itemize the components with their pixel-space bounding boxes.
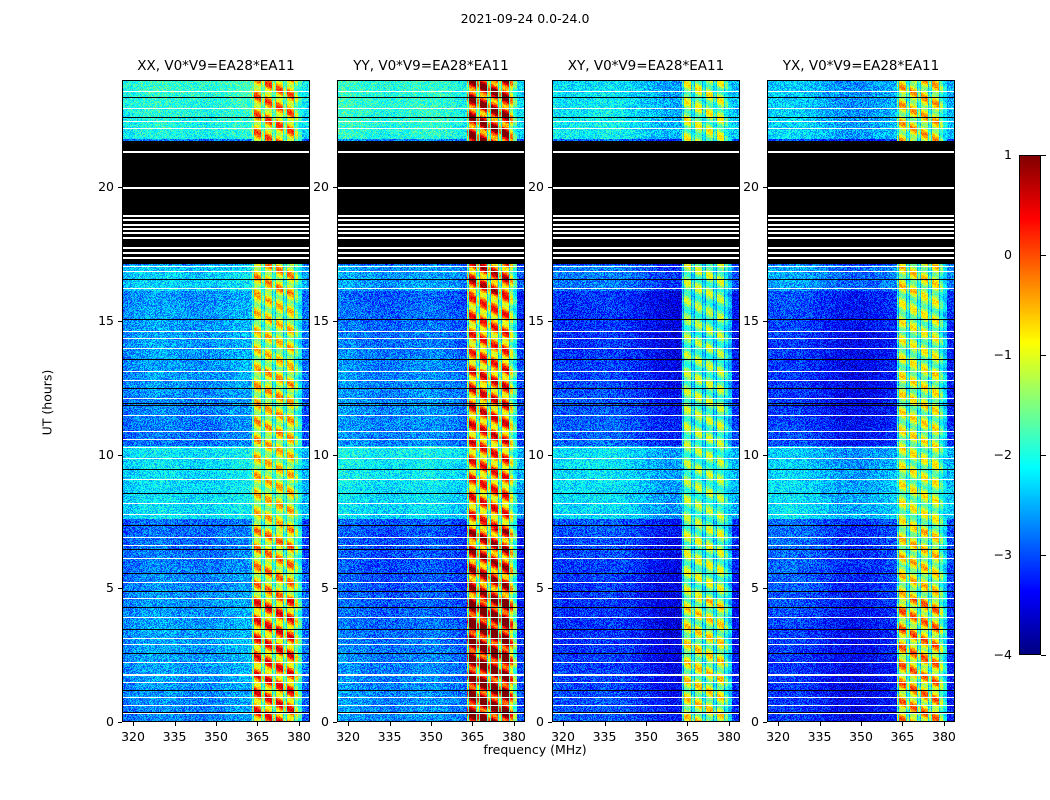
colorbar-tick-label: −2 — [978, 447, 1012, 462]
y-tick-label: 0 — [510, 714, 544, 729]
y-tick-mark — [548, 187, 552, 188]
y-tick-mark — [118, 455, 122, 456]
panel-title-xx: XX, V0*V9=EA28*EA11 — [122, 58, 310, 74]
panel-title-xy: XY, V0*V9=EA28*EA11 — [552, 58, 740, 74]
spectrogram-yy[interactable] — [337, 80, 525, 722]
y-tick-label: 15 — [295, 313, 329, 328]
y-tick-mark — [548, 455, 552, 456]
y-tick-label: 15 — [725, 313, 759, 328]
y-tick-label: 15 — [80, 313, 114, 328]
y-tick-label: 10 — [510, 447, 544, 462]
colorbar-tick-mark — [1041, 555, 1046, 556]
colorbar-tick-label: −3 — [978, 547, 1012, 562]
x-tick-mark — [944, 722, 945, 726]
y-tick-mark — [763, 455, 767, 456]
y-tick-mark — [333, 588, 337, 589]
colorbar[interactable] — [1019, 155, 1041, 655]
y-tick-mark — [763, 722, 767, 723]
x-tick-mark — [175, 722, 176, 726]
x-tick-mark — [861, 722, 862, 726]
y-tick-label: 20 — [510, 179, 544, 194]
y-tick-label: 10 — [725, 447, 759, 462]
y-tick-mark — [548, 722, 552, 723]
colorbar-tick-label: −4 — [978, 647, 1012, 662]
y-tick-label: 0 — [295, 714, 329, 729]
y-tick-label: 5 — [295, 580, 329, 595]
colorbar-tick-label: 1 — [978, 147, 1012, 162]
colorbar-tick-mark — [1041, 455, 1046, 456]
y-tick-label: 20 — [295, 179, 329, 194]
y-tick-label: 10 — [80, 447, 114, 462]
y-tick-mark — [333, 321, 337, 322]
x-tick-mark — [390, 722, 391, 726]
y-tick-label: 0 — [725, 714, 759, 729]
y-tick-label: 5 — [510, 580, 544, 595]
colorbar-tick-mark — [1041, 155, 1046, 156]
figure-canvas: 2021-09-24 0.0-24.0 XX, V0*V9=EA28*EA11 … — [0, 0, 1050, 800]
x-tick-mark — [257, 722, 258, 726]
y-tick-label: 10 — [295, 447, 329, 462]
spectrogram-xy[interactable] — [552, 80, 740, 722]
y-tick-mark — [333, 187, 337, 188]
x-tick-mark — [348, 722, 349, 726]
colorbar-tick-label: 0 — [978, 247, 1012, 262]
x-tick-mark — [646, 722, 647, 726]
y-tick-label: 0 — [80, 714, 114, 729]
panel-xy[interactable]: XY, V0*V9=EA28*EA11 — [552, 80, 740, 722]
y-tick-label: 5 — [725, 580, 759, 595]
y-tick-label: 15 — [510, 313, 544, 328]
x-tick-mark — [431, 722, 432, 726]
colorbar-tick-mark — [1041, 655, 1046, 656]
x-tick-mark — [605, 722, 606, 726]
x-tick-mark — [216, 722, 217, 726]
spectrogram-yx[interactable] — [767, 80, 955, 722]
y-tick-mark — [763, 321, 767, 322]
colorbar-tick-mark — [1041, 355, 1046, 356]
x-tick-mark — [778, 722, 779, 726]
panel-yy[interactable]: YY, V0*V9=EA28*EA11 — [337, 80, 525, 722]
x-tick-mark — [133, 722, 134, 726]
x-tick-mark — [902, 722, 903, 726]
x-tick-mark — [687, 722, 688, 726]
y-tick-mark — [333, 455, 337, 456]
colorbar-tick-mark — [1041, 255, 1046, 256]
y-tick-mark — [548, 588, 552, 589]
y-tick-mark — [548, 321, 552, 322]
y-tick-mark — [118, 187, 122, 188]
y-tick-label: 5 — [80, 580, 114, 595]
y-tick-mark — [118, 722, 122, 723]
panel-title-yx: YX, V0*V9=EA28*EA11 — [767, 58, 955, 74]
y-tick-mark — [333, 722, 337, 723]
panel-title-yy: YY, V0*V9=EA28*EA11 — [337, 58, 525, 74]
spectrogram-xx[interactable] — [122, 80, 310, 722]
x-tick-mark — [820, 722, 821, 726]
y-tick-mark — [118, 588, 122, 589]
panel-xx[interactable]: XX, V0*V9=EA28*EA11 — [122, 80, 310, 722]
panel-yx[interactable]: YX, V0*V9=EA28*EA11 — [767, 80, 955, 722]
y-axis-label: UT (hours) — [40, 323, 55, 483]
y-tick-label: 20 — [725, 179, 759, 194]
colorbar-frame — [1019, 155, 1041, 655]
y-tick-mark — [763, 187, 767, 188]
x-tick-mark — [563, 722, 564, 726]
y-tick-mark — [763, 588, 767, 589]
y-tick-label: 20 — [80, 179, 114, 194]
x-axis-label: frequency (MHz) — [122, 742, 948, 757]
y-tick-mark — [118, 321, 122, 322]
colorbar-tick-label: −1 — [978, 347, 1012, 362]
figure-suptitle: 2021-09-24 0.0-24.0 — [0, 11, 1050, 26]
x-tick-mark — [472, 722, 473, 726]
